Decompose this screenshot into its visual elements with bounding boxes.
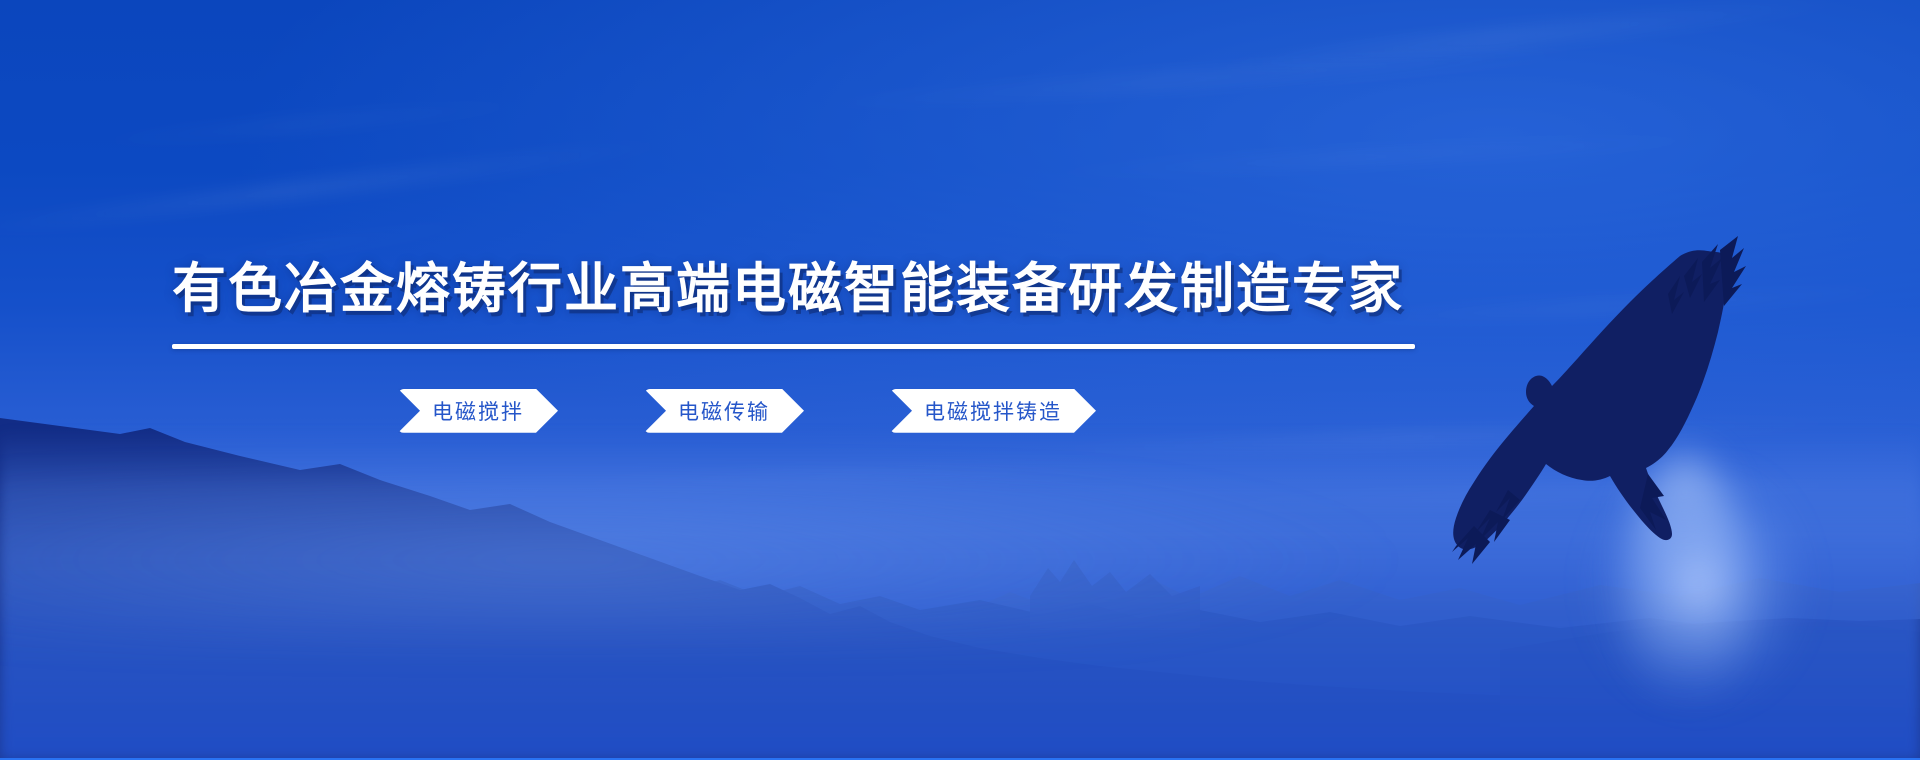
page-title: 有色冶金熔铸行业高端电磁智能装备研发制造专家 xyxy=(172,258,1422,322)
tag-electromagnetic-stirring-casting[interactable]: 电磁搅拌铸造 xyxy=(890,389,1096,433)
title-divider xyxy=(172,344,1415,349)
horizon-light-beam xyxy=(1630,455,1740,705)
tag-label: 电磁搅拌铸造 xyxy=(924,396,1062,426)
tag-label: 电磁搅拌 xyxy=(432,396,524,426)
tag-label: 电磁传输 xyxy=(678,396,770,426)
tag-electromagnetic-transmission[interactable]: 电磁传输 xyxy=(644,389,804,433)
tag-electromagnetic-stirring[interactable]: 电磁搅拌 xyxy=(398,389,558,433)
banner-content: 有色冶金熔铸行业高端电磁智能装备研发制造专家 电磁搅拌 电磁传输 电磁搅拌铸造 xyxy=(172,258,1422,433)
tag-list: 电磁搅拌 电磁传输 电磁搅拌铸造 xyxy=(172,389,1422,433)
hero-banner: 有色冶金熔铸行业高端电磁智能装备研发制造专家 电磁搅拌 电磁传输 电磁搅拌铸造 xyxy=(0,0,1920,760)
